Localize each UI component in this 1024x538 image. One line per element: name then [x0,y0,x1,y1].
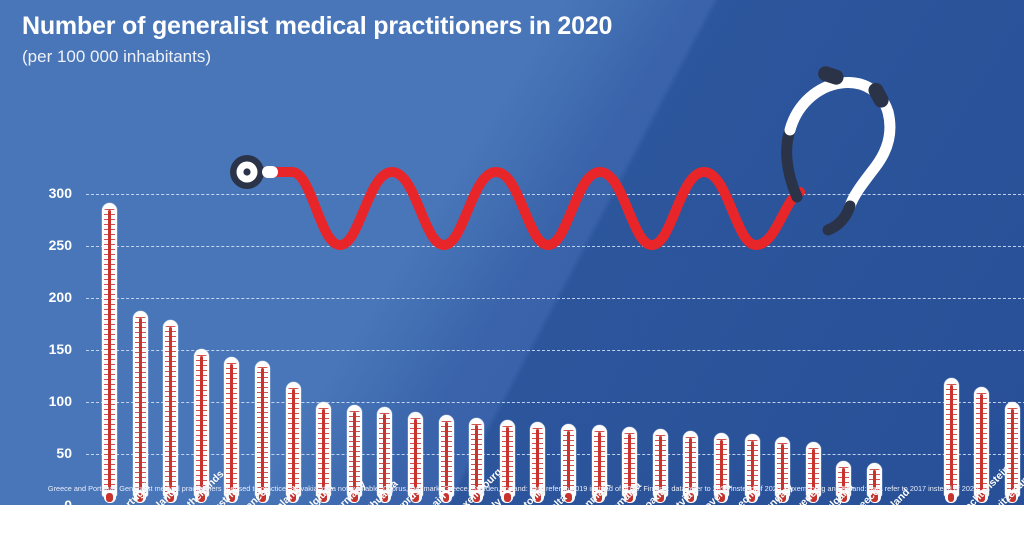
thermometer-tube [102,203,117,497]
y-axis-tick-label: 50 [32,445,72,461]
gridline [86,350,1024,351]
thermometer-tube [944,378,959,497]
thermometer-bar[interactable] [102,205,117,503]
gridline [86,194,1024,195]
thermometer-bar[interactable] [133,313,148,503]
gridline [86,298,1024,299]
thermometer-tube [255,361,270,497]
thermometer-ticks [946,384,957,494]
thermometer-ticks [976,393,987,494]
gridline [86,246,1024,247]
thermometer-ticks [165,326,176,494]
page-title: Number of generalist medical practitione… [22,12,612,41]
thermometer-bar[interactable] [255,363,270,503]
thermometer-ticks [288,388,299,494]
thermometer-ticks [196,355,207,494]
y-axis-tick-label: 100 [32,393,72,409]
thermometer-tube [163,320,178,497]
plot-area: 050100150200250300 PortugalIrelandNether… [46,97,1001,409]
thermometer-tube [133,311,148,497]
thermometer-bar[interactable] [224,359,239,503]
thermometer-ticks [135,317,146,494]
y-axis-tick-label: 200 [32,289,72,305]
y-axis-tick-label: 250 [32,237,72,253]
thermometer-ticks [226,363,237,494]
y-axis-tick-label: 150 [32,341,72,357]
y-axis-tick-label: 0 [32,497,72,505]
y-axis-tick-label: 300 [32,185,72,201]
footnote: Greece and Portugal: Generalist medical … [44,483,984,494]
footer-bar: ec.europa.eu/eurostat [0,505,1024,538]
chart-panel: Number of generalist medical practitione… [0,0,1024,505]
thermometer-bar[interactable] [163,322,178,503]
thermometer-ticks [257,367,268,494]
infographic: Number of generalist medical practitione… [0,0,1024,538]
thermometer-ticks [104,209,115,494]
thermometer-tube [194,349,209,497]
thermometer-tube [286,382,301,497]
page-subtitle: (per 100 000 inhabitants) [22,47,211,67]
